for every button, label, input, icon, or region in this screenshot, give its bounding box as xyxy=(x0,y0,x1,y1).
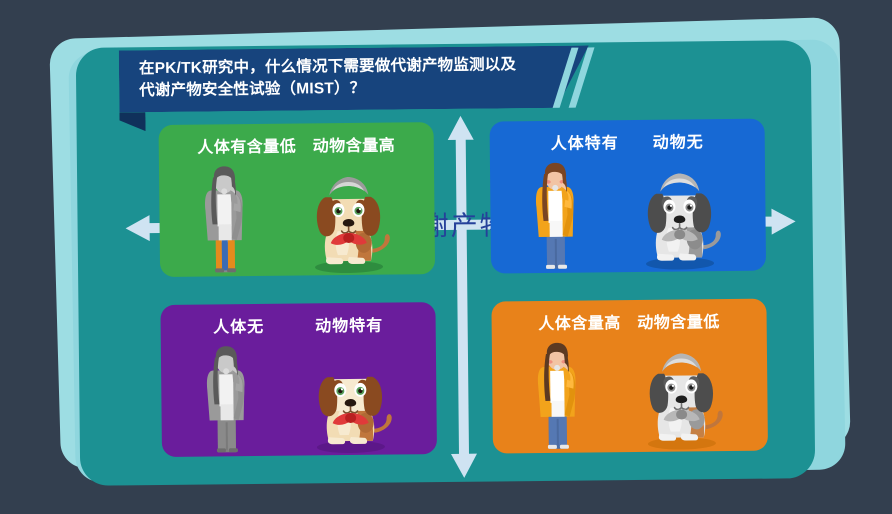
quadrant-top-right-title: 人体特有 动物无 xyxy=(490,128,765,155)
quadrant-bottom-left-title: 人体无 动物特有 xyxy=(161,311,436,338)
woman-figure-greyscale-icon xyxy=(193,164,256,277)
title-line-2: 代谢产物安全性试验（MIST）？ xyxy=(139,76,579,103)
vertical-axis-arrow-icon xyxy=(447,116,477,478)
dog-figure-color-icon xyxy=(298,350,403,455)
quadrant-bottom-right[interactable]: 人体含量高 动物含量低 xyxy=(491,299,768,454)
woman-figure-greyscale-icon xyxy=(195,344,258,457)
dog-figure-greyscale-icon xyxy=(627,167,732,272)
title-line-1: 在PK/TK研究中，什么情况下需要做代谢产物监测以及 xyxy=(139,54,579,81)
dog-figure-color-icon xyxy=(296,170,401,275)
quadrant-top-right[interactable]: 人体特有 动物无 xyxy=(490,119,767,274)
dog-figure-greyscale-icon xyxy=(629,347,734,452)
title-banner: 在PK/TK研究中，什么情况下需要做代谢产物监测以及 代谢产物安全性试验（MIS… xyxy=(119,45,590,112)
double-slash-icon xyxy=(554,47,615,108)
quadrant-bottom-left[interactable]: 人体无 动物特有 xyxy=(160,302,437,457)
woman-figure-color-icon xyxy=(526,341,589,454)
quadrant-top-left[interactable]: 人体有含量低 动物含量高 xyxy=(159,122,436,277)
banner-fold-corner xyxy=(119,112,145,131)
infographic-stage: 在PK/TK研究中，什么情况下需要做代谢产物监测以及 代谢产物安全性试验（MIS… xyxy=(0,0,892,514)
card-layer-front: 在PK/TK研究中，什么情况下需要做代谢产物监测以及 代谢产物安全性试验（MIS… xyxy=(76,40,816,486)
woman-figure-color-icon xyxy=(524,161,587,274)
quadrant-bottom-right-title: 人体含量高 动物含量低 xyxy=(492,308,767,335)
quadrant-top-left-title: 人体有含量低 动物含量高 xyxy=(159,131,434,158)
